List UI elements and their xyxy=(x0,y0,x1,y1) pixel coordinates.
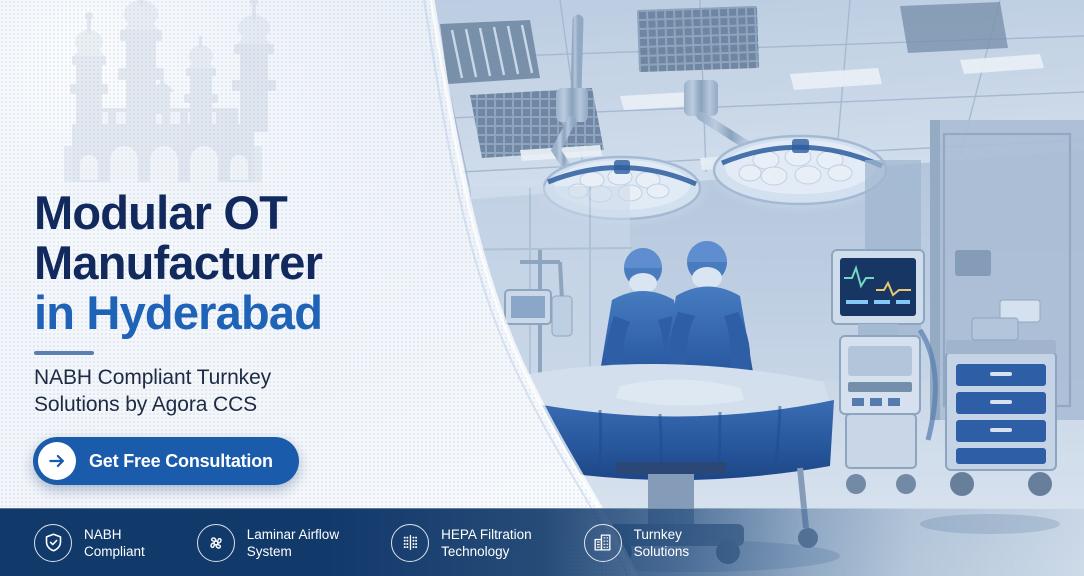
feature-label-line-2: System xyxy=(247,543,339,560)
feature-label: Turnkey Solutions xyxy=(634,526,690,560)
feature-label-line-2: Solutions xyxy=(634,543,690,560)
feature-label-line-1: HEPA Filtration xyxy=(441,526,532,543)
cta-label: Get Free Consultation xyxy=(89,451,273,472)
get-free-consultation-button[interactable]: Get Free Consultation xyxy=(33,437,299,485)
feature-bar: NABH Compliant Laminar Airflow System xyxy=(0,508,1084,576)
hero-title-line-1: Modular OT xyxy=(34,188,454,238)
feature-label-line-2: Compliant xyxy=(84,543,145,560)
feature-label: Laminar Airflow System xyxy=(247,526,339,560)
arrow-right-icon xyxy=(38,442,76,480)
buildings-icon xyxy=(584,524,622,562)
shield-check-icon xyxy=(34,524,72,562)
accent-rule xyxy=(34,351,94,355)
hero-title-line-3: in Hyderabad xyxy=(34,288,454,338)
fan-icon xyxy=(197,524,235,562)
feature-label: NABH Compliant xyxy=(84,526,145,560)
hero-title-line-2: Manufacturer xyxy=(34,238,454,288)
hero-subtitle-line-2: Solutions by Agora CCS xyxy=(34,391,454,418)
filter-grid-icon xyxy=(391,524,429,562)
hero-banner: Modular OT Manufacturer in Hyderabad NAB… xyxy=(0,0,1084,576)
feature-item-nabh-compliant[interactable]: NABH Compliant xyxy=(34,524,145,562)
feature-label-line-2: Technology xyxy=(441,543,532,560)
hero-subtitle-line-1: NABH Compliant Turnkey xyxy=(34,364,454,391)
feature-item-laminar-airflow-system[interactable]: Laminar Airflow System xyxy=(197,524,339,562)
feature-item-hepa-filtration-technology[interactable]: HEPA Filtration Technology xyxy=(391,524,532,562)
hero-text-block: Modular OT Manufacturer in Hyderabad NAB… xyxy=(34,188,454,418)
feature-label-line-1: Laminar Airflow xyxy=(247,526,339,543)
feature-item-turnkey-solutions[interactable]: Turnkey Solutions xyxy=(584,524,690,562)
feature-label-line-1: Turnkey xyxy=(634,526,690,543)
feature-label-line-1: NABH xyxy=(84,526,145,543)
feature-label: HEPA Filtration Technology xyxy=(441,526,532,560)
